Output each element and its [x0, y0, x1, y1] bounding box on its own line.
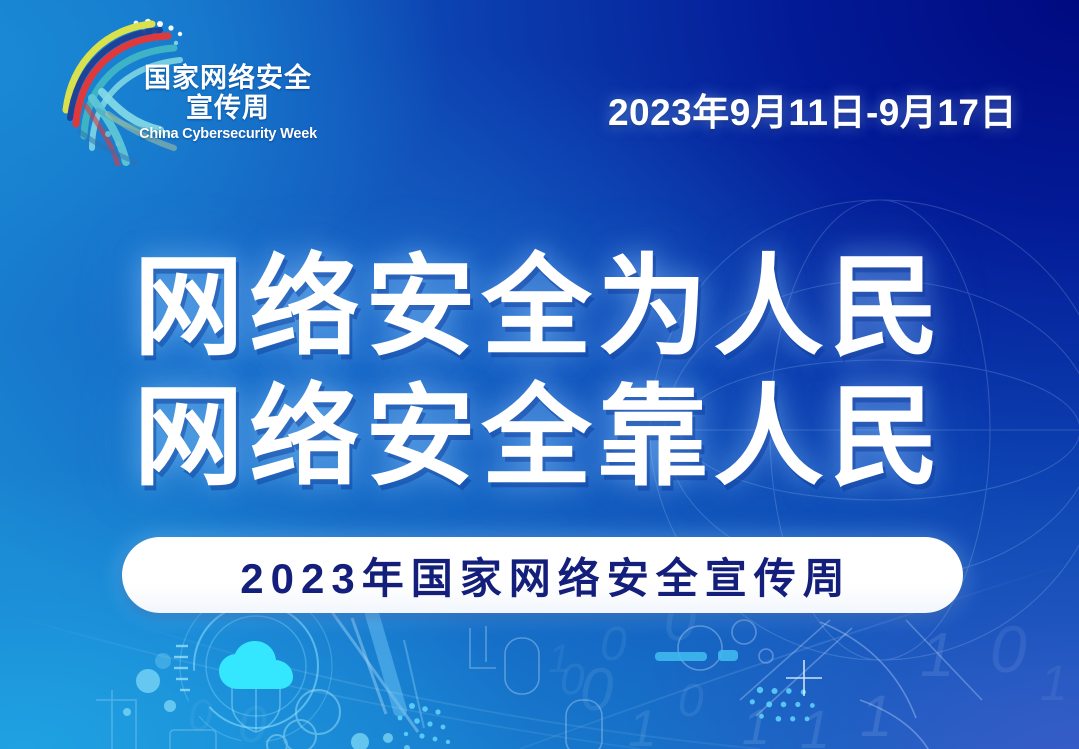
cybersecurity-week-poster: 0 1 0 1 1 1 1 0 0 0 0 0 0 1 1	[0, 0, 1079, 749]
event-name-pill: 2023年国家网络安全宣传周	[122, 537, 963, 613]
logo-title-line2: 宣传周	[118, 93, 338, 123]
headline-line-2: 网络安全靠人民	[0, 373, 1079, 503]
event-name-text: 2023年国家网络安全宣传周	[233, 545, 851, 606]
logo-text-block: 国家网络安全 宣传周 China Cybersecurity Week	[118, 64, 338, 142]
headline-block: 网络安全为人民 网络安全靠人民	[0, 243, 1079, 503]
event-date: 2023年9月11日-9月17日	[608, 82, 1017, 136]
logo: 国家网络安全 宣传周 China Cybersecurity Week	[56, 14, 336, 166]
logo-subtitle-english: China Cybersecurity Week	[118, 126, 338, 142]
cloud-icon	[218, 640, 294, 692]
headline-line-1: 网络安全为人民	[0, 243, 1079, 373]
logo-title-line1: 国家网络安全	[118, 64, 338, 93]
